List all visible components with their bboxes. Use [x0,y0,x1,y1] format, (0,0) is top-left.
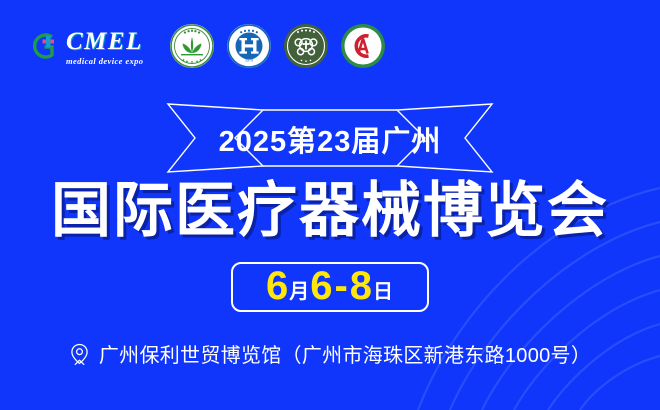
cmel-logo: CMEL medical device expo [28,28,143,65]
date-day-end: 8 [350,266,372,306]
ribbon-title: 2025第23届广州 [165,102,495,176]
logo-bar: CMEL medical device expo [0,0,660,92]
venue-row: 广州保利世贸博览馆（广州市海珠区新港东路1000号） [0,339,660,368]
date-month-unit: 月 [289,282,309,302]
cmel-wordmark-text: CMEL [66,29,143,54]
cmel-tagline: medical device expo [66,57,143,66]
date-separator: - [334,266,347,306]
date-day-start: 6 [310,266,332,306]
date-badge: 6 月 6 - 8 日 [231,262,429,312]
cmel-wordmark-block: CMEL medical device expo [66,29,143,66]
ca-certification-emblem [340,23,386,69]
expo-poster: CMEL medical device expo [0,0,660,410]
poster-headline: 国际医疗器械博览会 [0,178,660,244]
partner-emblem-row: 1979 [169,23,386,69]
date-day-unit: 日 [373,282,393,302]
svg-text:1979: 1979 [245,59,253,63]
ribbon-banner: 2025第23届广州 [165,101,495,175]
guangdong-medical-association-emblem [169,23,215,69]
venue-address: 广州保利世贸博览馆（广州市海珠区新港东路1000号） [99,339,591,368]
medical-equipment-association-emblem [283,23,329,69]
cmel-g-cross-icon [28,29,62,63]
location-pin-icon [69,343,90,366]
date-month-number: 6 [266,266,288,306]
hospital-association-emblem: 1979 [226,23,272,69]
